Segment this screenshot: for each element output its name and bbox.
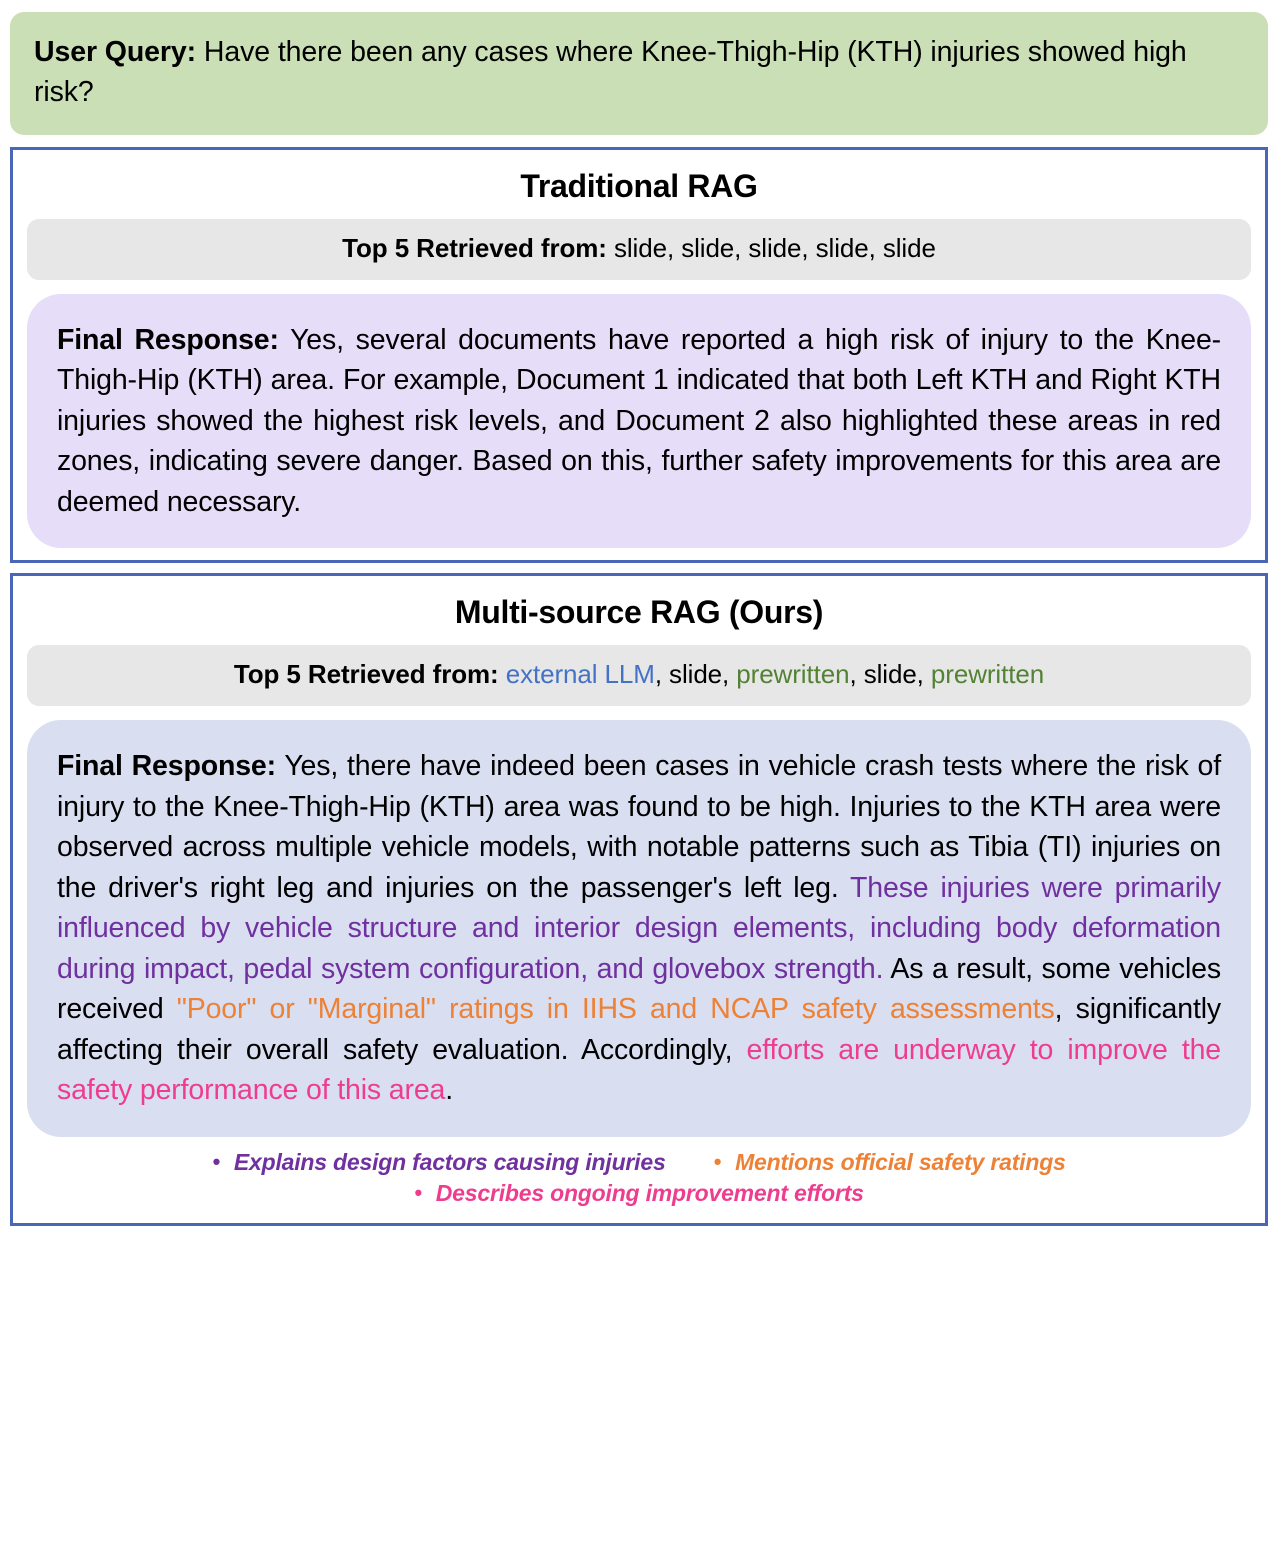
traditional-response-label: Final Response: — [57, 324, 279, 356]
bullet-icon: • — [714, 1151, 722, 1173]
traditional-retrieved-strip: Top 5 Retrieved from: slide, slide, slid… — [27, 219, 1251, 280]
legend-item-label: Explains design factors causing injuries — [234, 1149, 666, 1176]
multisource-rag-panel: Multi-source RAG (Ours) Top 5 Retrieved … — [10, 573, 1268, 1225]
multisource-legend: • Explains design factors causing injuri… — [27, 1149, 1251, 1207]
multisource-final-response: Final Response: Yes, there have indeed b… — [27, 720, 1251, 1136]
comparison-figure: User Query: Have there been any cases wh… — [0, 0, 1278, 1552]
multisource-response-label: Final Response: — [57, 750, 276, 782]
legend-item-safety-ratings: • Mentions official safety ratings — [714, 1149, 1066, 1176]
multisource-rag-title: Multi-source RAG (Ours) — [27, 594, 1251, 631]
user-query-text: Have there been any cases where Knee-Thi… — [34, 36, 1187, 108]
legend-item-label: Describes ongoing improvement efforts — [436, 1180, 864, 1207]
legend-row-top: • Explains design factors causing injuri… — [27, 1149, 1251, 1176]
multisource-retrieved-label: Top 5 Retrieved from: — [234, 659, 499, 689]
multisource-response-segment-black-4: . — [445, 1074, 453, 1106]
source-separator-1: , slide, — [655, 659, 736, 689]
source-external-llm: external LLM — [506, 659, 655, 689]
traditional-retrieved-label: Top 5 Retrieved from: — [342, 233, 607, 263]
legend-row-bottom: • Describes ongoing improvement efforts — [27, 1180, 1251, 1207]
user-query-label: User Query: — [34, 36, 196, 68]
user-query-box: User Query: Have there been any cases wh… — [10, 12, 1268, 135]
source-prewritten-2: prewritten — [931, 659, 1044, 689]
legend-item-improvement-efforts: • Describes ongoing improvement efforts — [414, 1180, 864, 1207]
traditional-rag-panel: Traditional RAG Top 5 Retrieved from: sl… — [10, 147, 1268, 563]
source-prewritten-1: prewritten — [736, 659, 849, 689]
traditional-retrieved-sources: slide, slide, slide, slide, slide — [614, 233, 936, 263]
traditional-final-response: Final Response: Yes, several documents h… — [27, 294, 1251, 548]
source-separator-2: , slide, — [849, 659, 930, 689]
bullet-icon: • — [212, 1151, 220, 1173]
multisource-response-segment-orange: "Poor" or "Marginal" ratings in IIHS and… — [177, 993, 1055, 1025]
legend-item-label: Mentions official safety ratings — [735, 1149, 1066, 1176]
bullet-icon: • — [414, 1182, 422, 1204]
multisource-retrieved-strip: Top 5 Retrieved from: external LLM, slid… — [27, 645, 1251, 706]
legend-item-design-factors: • Explains design factors causing injuri… — [212, 1149, 665, 1176]
traditional-rag-title: Traditional RAG — [27, 168, 1251, 205]
